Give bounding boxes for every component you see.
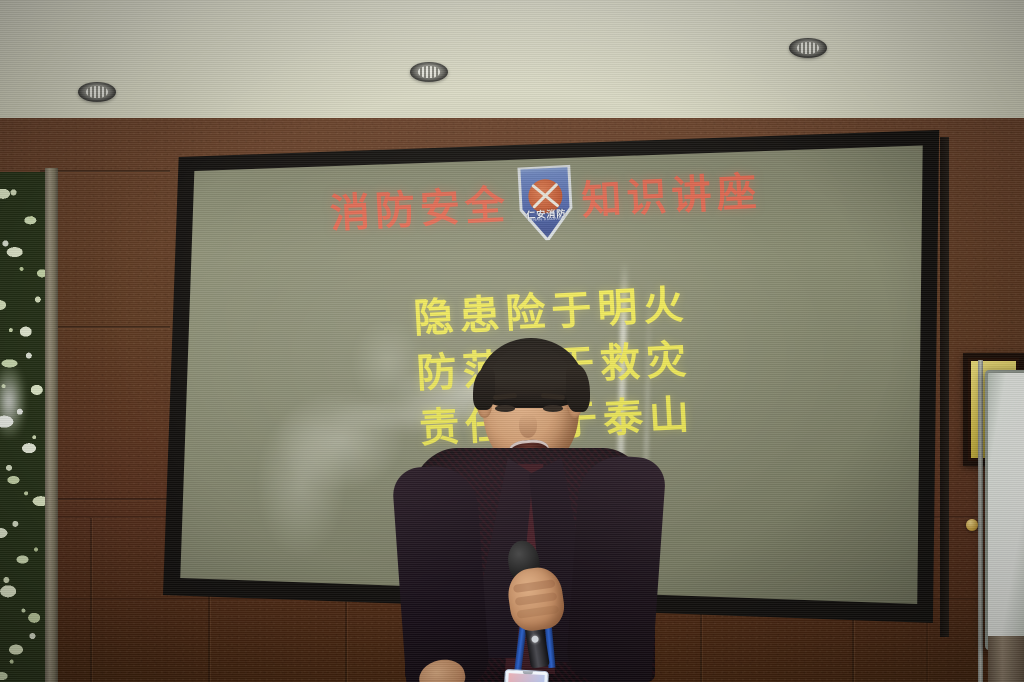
door-edge [978,360,983,682]
slide-title-right: 知识讲座 [581,171,763,220]
door-knob[interactable] [966,519,978,531]
torso [405,448,655,682]
whiteboard[interactable] [985,370,1024,650]
lattice-window-panel [0,172,45,682]
slide-title-left: 消防安全 [329,185,511,234]
downlight-center-icon [410,62,448,82]
id-badge [501,669,549,682]
wall-seam [40,498,170,500]
photo-scene: 消防安全 仁安消防 RENAN XIAOFANG 知识讲座 隐患险于明火 防 [0,0,1024,682]
wall-seam-vertical [90,518,92,682]
arm-right [565,453,667,682]
wall-seam [40,326,170,328]
eye-right [543,405,563,412]
window-light-glow [0,366,25,437]
window-mullion [45,168,58,682]
nose [519,414,537,438]
whiteboard-stand [988,636,1024,682]
downlight-right-icon [789,38,827,58]
wall-seam [40,170,170,172]
arm-left [391,463,490,682]
fire-shield-crossed-axes-icon: 仁安消防 RENAN XIAOFANG [516,166,576,239]
badge-header [508,673,545,682]
downlight-left-icon [78,82,116,102]
presenter [395,330,665,682]
eye-left [495,405,515,412]
